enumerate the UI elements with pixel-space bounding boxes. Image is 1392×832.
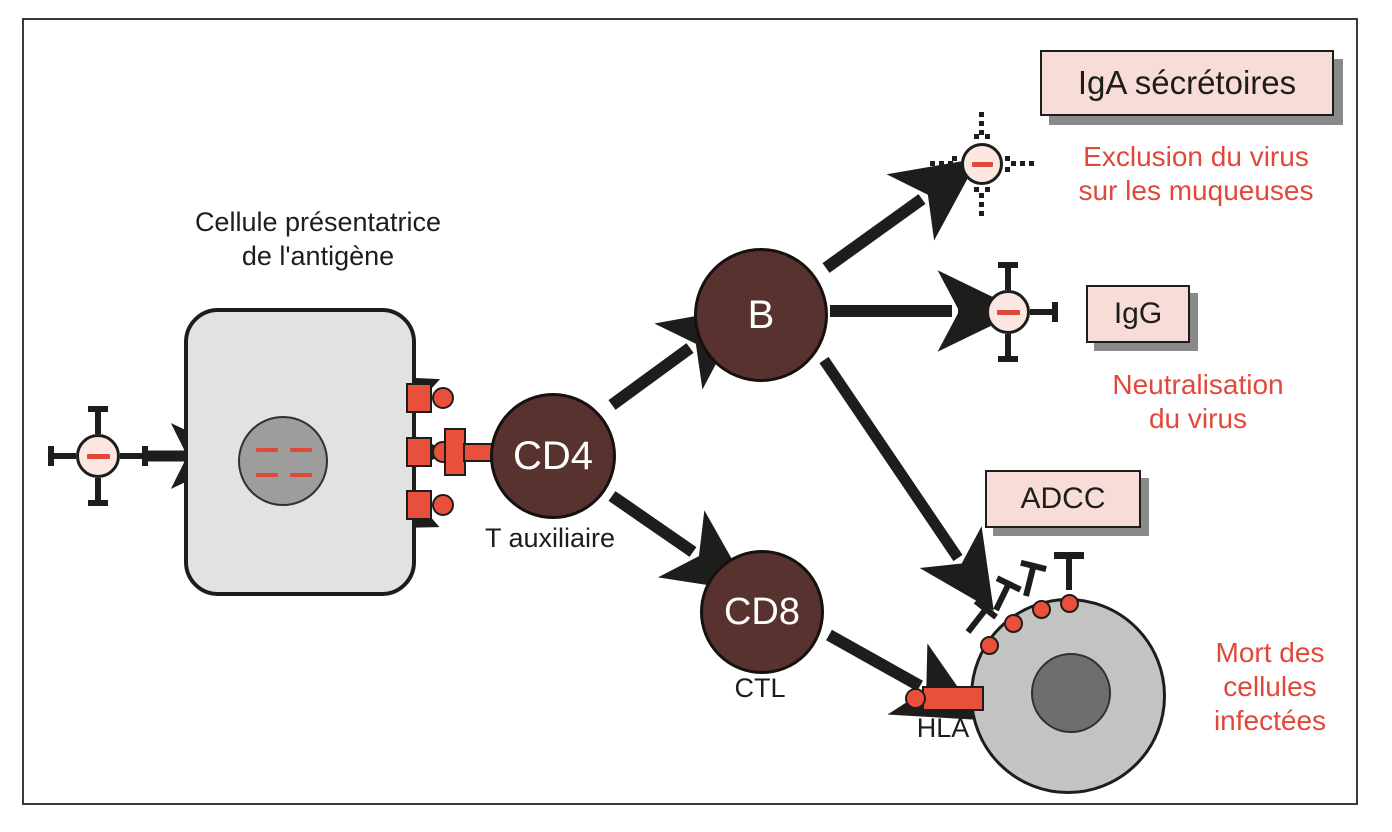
infected-cell-nucleus <box>1031 653 1111 733</box>
antigen-presenting-cell <box>184 308 416 596</box>
apc-mhc-peptide-bottom <box>432 494 454 516</box>
apc-mhc-receptor-bottom <box>406 490 432 520</box>
adcc-antibody-4 <box>1054 552 1084 590</box>
igg-antibody-mark-top <box>998 262 1018 290</box>
antibody-mark-left <box>48 446 76 466</box>
apc-label-line1: Cellule présentatrice <box>168 206 468 240</box>
virus-capsid-icon <box>76 434 120 478</box>
cd4-cell-label: CD4 <box>513 434 593 479</box>
apc-mhc-receptor-mid <box>406 437 432 467</box>
igg-box-label: IgG <box>1114 297 1162 331</box>
apc-peptide-2 <box>290 448 312 452</box>
hla-receptor-stem <box>922 686 984 711</box>
secretory-iga-mark-top <box>974 112 990 143</box>
viral-antigen-1 <box>980 636 999 655</box>
mort-caption-line1: Mort des <box>1188 636 1352 670</box>
infected-cell <box>970 598 1166 794</box>
apc-label-line2: de l'antigène <box>168 240 468 274</box>
apc-label: Cellule présentatrice de l'antigène <box>168 206 468 274</box>
mort-caption-line2: cellules <box>1188 670 1352 704</box>
exclusion-caption-line1: Exclusion du virus <box>1036 140 1356 174</box>
apc-peptide-4 <box>290 473 312 477</box>
iga-virus-genome-icon <box>972 162 993 167</box>
adcc-box-frame: ADCC <box>985 470 1141 528</box>
neutralisation-caption: Neutralisation du virus <box>1040 368 1356 436</box>
exclusion-caption-line2: sur les muqueuses <box>1036 174 1356 208</box>
antibody-mark-bottom <box>88 478 108 506</box>
antibody-mark-top <box>88 406 108 434</box>
adcc-box-label: ADCC <box>1020 482 1105 516</box>
igg-virus-genome-icon <box>997 310 1020 315</box>
apc-mhc-receptor-top <box>406 383 432 413</box>
mort-caption-line3: infectées <box>1188 704 1352 738</box>
igg-antibody-mark-right <box>1030 302 1058 322</box>
hla-label: HLA <box>888 712 998 746</box>
apc-peptide-1 <box>256 448 278 452</box>
igg-box-frame: IgG <box>1086 285 1190 343</box>
neutralisation-caption-line2: du virus <box>1040 402 1356 436</box>
igg-antibody-mark-left <box>958 302 986 322</box>
cd4-caption: T auxiliaire <box>460 522 640 556</box>
exclusion-caption: Exclusion du virus sur les muqueuses <box>1036 140 1356 208</box>
cd8-caption: CTL <box>690 672 830 706</box>
cd4-t-cell: CD4 <box>490 393 616 519</box>
secretory-iga-mark-right <box>1003 156 1034 172</box>
cd8-t-cell: CD8 <box>700 550 824 674</box>
apc-mhc-peptide-top <box>432 387 454 409</box>
b-cell: B <box>694 248 828 382</box>
iga-box-label: IgA sécrétoires <box>1078 64 1296 102</box>
mort-caption: Mort des cellules infectées <box>1188 636 1352 738</box>
hla-receptor-head <box>905 688 926 709</box>
virus-genome-icon <box>87 454 110 459</box>
igg-coated-virus <box>958 262 1058 362</box>
apc-nucleus <box>238 416 328 506</box>
diagram-canvas: Cellule présentatrice de l'antigène CD4 … <box>0 0 1392 832</box>
neutralisation-caption-line1: Neutralisation <box>1040 368 1356 402</box>
igg-antibody-mark-bottom <box>998 334 1018 362</box>
igg-virus-capsid-icon <box>986 290 1030 334</box>
secretory-iga-mark-bottom <box>974 185 990 216</box>
iga-coated-virus <box>930 112 1034 216</box>
viral-antigen-2 <box>1004 614 1023 633</box>
b-cell-label: B <box>748 293 775 338</box>
iga-virus-capsid-icon <box>961 143 1003 185</box>
viral-antigen-4 <box>1060 594 1079 613</box>
free-virus-particle <box>48 406 148 506</box>
viral-antigen-3 <box>1032 600 1051 619</box>
antibody-mark-right <box>120 446 148 466</box>
apc-peptide-3 <box>256 473 278 477</box>
cd8-cell-label: CD8 <box>724 591 800 634</box>
iga-box-frame: IgA sécrétoires <box>1040 50 1334 116</box>
secretory-iga-mark-left <box>930 156 961 172</box>
